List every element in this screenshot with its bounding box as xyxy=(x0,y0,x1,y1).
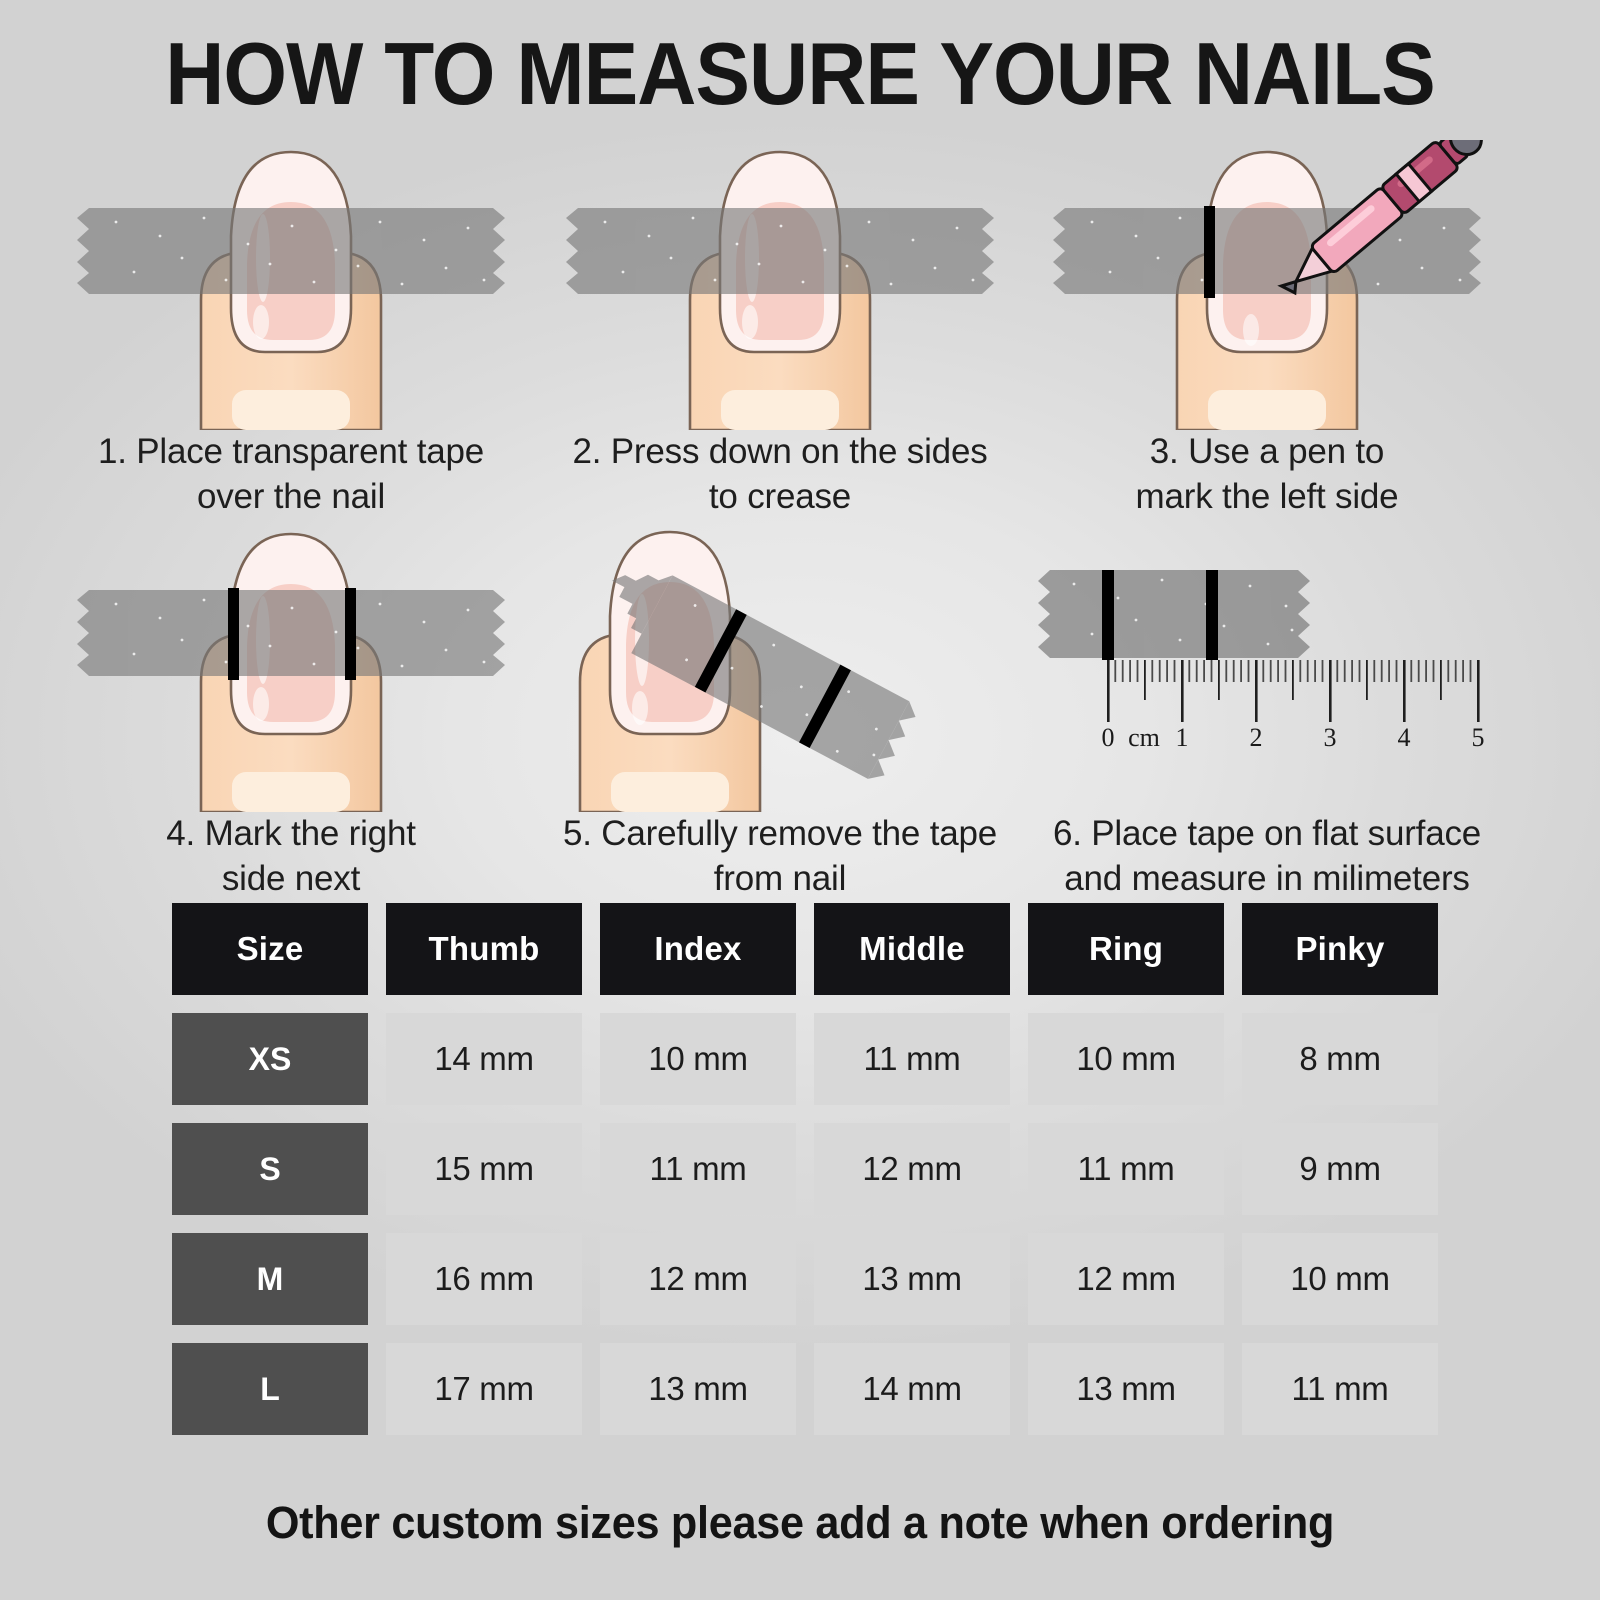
measurement-cell: 14 mm xyxy=(386,1013,582,1105)
step-6-caption: 6. Place tape on flat surface and measur… xyxy=(1032,812,1502,902)
measurement-cell: 10 mm xyxy=(600,1013,796,1105)
tape-mark-right xyxy=(1206,570,1218,660)
measurement-cell: 12 mm xyxy=(600,1233,796,1325)
size-cell: S xyxy=(172,1123,368,1215)
table-header-row: SizeThumbIndexMiddleRingPinky xyxy=(172,903,1438,995)
footer-note: Other custom sizes please add a note whe… xyxy=(32,1497,1568,1549)
ruler-ticks xyxy=(1107,660,1480,722)
ruler-numbers: 012345cm xyxy=(1102,723,1485,752)
tape-on-ruler-icon: 012345cm xyxy=(1032,522,1502,812)
table-row: XS14 mm10 mm11 mm10 mm8 mm xyxy=(172,1013,1438,1105)
step-2: 2. Press down on the sides to crease xyxy=(545,140,1015,520)
step-1-caption-line2: over the nail xyxy=(56,475,526,520)
table-header-pinky: Pinky xyxy=(1242,903,1438,995)
measurement-cell: 11 mm xyxy=(600,1123,796,1215)
step-1: 1. Place transparent tape over the nail xyxy=(56,140,526,520)
step-4-caption-line2: side next xyxy=(56,857,526,902)
ruler-tick-label: 0 xyxy=(1102,723,1115,752)
ruler-tick-label: 3 xyxy=(1324,723,1337,752)
ruler-tick-label: 1 xyxy=(1176,723,1189,752)
table-row: L17 mm13 mm14 mm13 mm11 mm xyxy=(172,1343,1438,1435)
ruler-tick-label: 5 xyxy=(1472,723,1485,752)
finger-with-tape-icon xyxy=(56,140,526,430)
step-3: 3. Use a pen to mark the left side xyxy=(1032,140,1502,520)
step-1-caption-line1: 1. Place transparent tape xyxy=(56,430,526,475)
measurement-cell: 14 mm xyxy=(814,1343,1010,1435)
size-cell: XS xyxy=(172,1013,368,1105)
step-3-caption: 3. Use a pen to mark the left side xyxy=(1032,430,1502,520)
step-5-caption-line1: 5. Carefully remove the tape xyxy=(545,812,1015,857)
step-3-illustration xyxy=(1032,140,1502,420)
ruler-tick-label: 4 xyxy=(1398,723,1411,752)
size-chart-table: SizeThumbIndexMiddleRingPinky XS14 mm10 … xyxy=(172,903,1438,1453)
measurement-cell: 17 mm xyxy=(386,1343,582,1435)
table-header-index: Index xyxy=(600,903,796,995)
measurement-cell: 10 mm xyxy=(1242,1233,1438,1325)
step-2-caption-line1: 2. Press down on the sides xyxy=(545,430,1015,475)
measurement-cell: 8 mm xyxy=(1242,1013,1438,1105)
ruler-tick-label: 2 xyxy=(1250,723,1263,752)
step-2-illustration xyxy=(545,140,1015,420)
measurement-cell: 11 mm xyxy=(1028,1123,1224,1215)
measurement-cell: 13 mm xyxy=(814,1233,1010,1325)
step-3-caption-line2: mark the left side xyxy=(1032,475,1502,520)
step-4-illustration xyxy=(56,522,526,802)
measurement-cell: 15 mm xyxy=(386,1123,582,1215)
step-4-caption: 4. Mark the right side next xyxy=(56,812,526,902)
left-mark xyxy=(1204,206,1215,298)
page-title: HOW TO MEASURE YOUR NAILS xyxy=(56,30,1544,118)
step-4: 4. Mark the right side next xyxy=(56,522,526,902)
measurement-cell: 9 mm xyxy=(1242,1123,1438,1215)
finger-with-pen-icon xyxy=(1032,140,1502,430)
infographic-page: HOW TO MEASURE YOUR NAILS xyxy=(0,0,1600,1600)
table-header-middle: Middle xyxy=(814,903,1010,995)
step-6-caption-line1: 6. Place tape on flat surface xyxy=(1032,812,1502,857)
step-6-illustration: 012345cm xyxy=(1032,522,1502,802)
ruler-unit-label: cm xyxy=(1128,723,1160,752)
step-5-caption: 5. Carefully remove the tape from nail xyxy=(545,812,1015,902)
measurement-cell: 16 mm xyxy=(386,1233,582,1325)
table-header-ring: Ring xyxy=(1028,903,1224,995)
step-2-caption: 2. Press down on the sides to crease xyxy=(545,430,1015,520)
step-5-illustration xyxy=(545,522,1015,802)
measurement-cell: 11 mm xyxy=(814,1013,1010,1105)
finger-with-peeled-tape-icon xyxy=(545,522,1015,812)
table-row: S15 mm11 mm12 mm11 mm9 mm xyxy=(172,1123,1438,1215)
step-5: 5. Carefully remove the tape from nail xyxy=(545,522,1015,902)
finger-with-two-marks-icon xyxy=(56,522,526,812)
table-row: M16 mm12 mm13 mm12 mm10 mm xyxy=(172,1233,1438,1325)
step-3-caption-line1: 3. Use a pen to xyxy=(1032,430,1502,475)
step-2-caption-line2: to crease xyxy=(545,475,1015,520)
step-5-caption-line2: from nail xyxy=(545,857,1015,902)
measurement-cell: 13 mm xyxy=(1028,1343,1224,1435)
step-6: 012345cm 6. Place tape on flat surface a… xyxy=(1032,522,1502,902)
tape-mark-left xyxy=(1102,570,1114,660)
size-cell: L xyxy=(172,1343,368,1435)
left-mark xyxy=(228,588,239,680)
table-header-size: Size xyxy=(172,903,368,995)
table-body: XS14 mm10 mm11 mm10 mm8 mmS15 mm11 mm12 … xyxy=(172,1013,1438,1435)
step-4-caption-line1: 4. Mark the right xyxy=(56,812,526,857)
right-mark xyxy=(345,588,356,680)
measurement-cell: 11 mm xyxy=(1242,1343,1438,1435)
step-1-illustration xyxy=(56,140,526,420)
measurement-cell: 13 mm xyxy=(600,1343,796,1435)
measurement-cell: 10 mm xyxy=(1028,1013,1224,1105)
finger-with-creased-tape-icon xyxy=(545,140,1015,430)
measurement-cell: 12 mm xyxy=(814,1123,1010,1215)
table-header-thumb: Thumb xyxy=(386,903,582,995)
step-1-caption: 1. Place transparent tape over the nail xyxy=(56,430,526,520)
size-cell: M xyxy=(172,1233,368,1325)
step-6-caption-line2: and measure in milimeters xyxy=(1032,857,1502,902)
measurement-cell: 12 mm xyxy=(1028,1233,1224,1325)
